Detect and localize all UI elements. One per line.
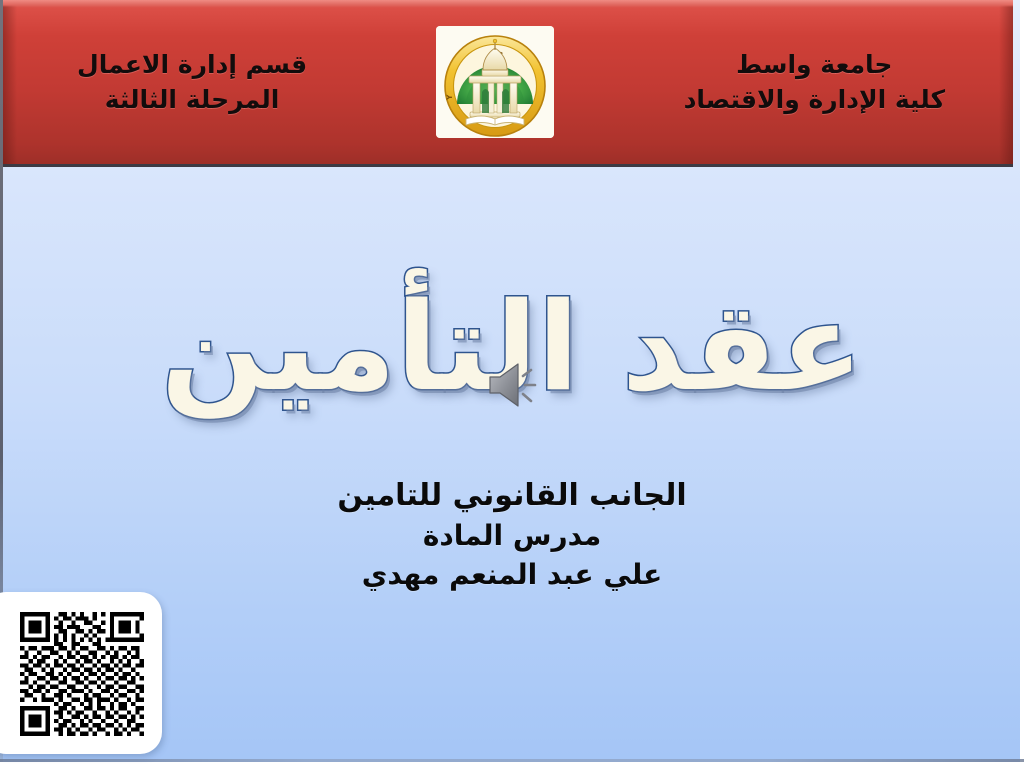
header-band: جامعة واسط كلية الإدارة والاقتصاد xyxy=(3,0,1013,167)
qr-code-image xyxy=(20,612,144,736)
presentation-slide: جامعة واسط كلية الإدارة والاقتصاد xyxy=(0,0,1024,768)
subtitle-line-instructor: علي عبد المنعم مهدي xyxy=(0,555,1024,595)
wasit-university-logo-icon: WASIT UNIVERSITY جامعة واسط xyxy=(436,26,554,138)
subtitle-line-topic: الجانب القانوني للتامين xyxy=(0,476,1024,516)
page-margin-bottom xyxy=(0,762,1024,768)
department-title: قسم إدارة الاعمال المرحلة الثالثة xyxy=(77,47,307,118)
speaker-icon[interactable] xyxy=(484,356,544,414)
subtitle-line-role: مدرس المادة xyxy=(0,516,1024,556)
college-name: كلية الإدارة والاقتصاد xyxy=(684,82,945,118)
qr-code-card[interactable] xyxy=(0,592,162,754)
subtitle-block: الجانب القانوني للتامين مدرس المادة علي … xyxy=(0,476,1024,595)
stage-name: المرحلة الثالثة xyxy=(77,82,307,118)
department-name: قسم إدارة الاعمال xyxy=(77,50,307,79)
university-name: جامعة واسط xyxy=(736,50,892,79)
university-title: جامعة واسط كلية الإدارة والاقتصاد xyxy=(684,47,945,118)
